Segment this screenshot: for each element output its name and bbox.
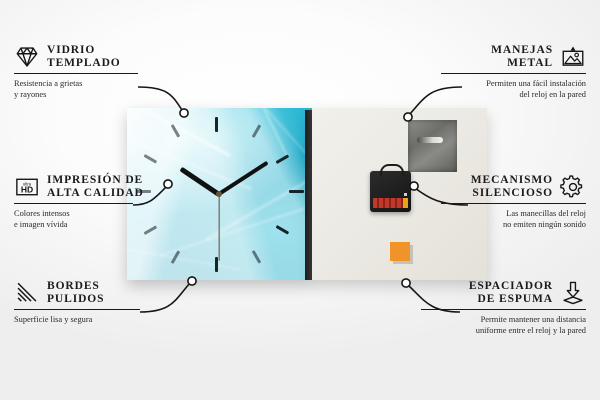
callout-title-line1: BORDES — [47, 280, 104, 293]
metal-hanger — [408, 120, 457, 172]
ultra-hd-large-text: HD — [21, 185, 33, 195]
callout-title-line2: SILENCIOSO — [471, 187, 553, 200]
callout-description: Colores intensos e imagen vívida — [14, 208, 214, 230]
callout-header: VIDRIO TEMPLADO — [14, 44, 214, 70]
callout-header: MECANISMO SILENCIOSO — [386, 174, 586, 200]
callout-header: ultra HD IMPRESIÓN DE ALTA CALIDAD — [14, 174, 214, 200]
desc-line1: Permite mantener una distancia — [386, 314, 586, 325]
callout-title-line2: PULIDOS — [47, 293, 104, 306]
callout-title-line1: ESPACIADOR — [469, 280, 553, 293]
callout-title-line1: MANEJAS — [491, 44, 553, 57]
callout-mecanismo-silencioso: MECANISMO SILENCIOSO Las manecillas del … — [386, 174, 586, 230]
callout-impresion-alta-calidad: ultra HD IMPRESIÓN DE ALTA CALIDAD Color… — [14, 174, 214, 230]
callout-vidrio-templado: VIDRIO TEMPLADO Resistencia a grietas y … — [14, 44, 214, 100]
callout-divider — [14, 203, 133, 204]
desc-line1: Permiten una fácil instalación — [386, 78, 586, 89]
callout-description: Superficie lisa y segura — [14, 314, 214, 325]
callout-description: Las manecillas del reloj no emiten ningú… — [386, 208, 586, 230]
hanger-slot — [417, 137, 443, 143]
infographic-canvas: VIDRIO TEMPLADO Resistencia a grietas y … — [0, 0, 600, 400]
callout-title-line2: DE ESPUMA — [469, 293, 553, 306]
down-arrow-pad-icon — [560, 280, 586, 306]
callout-title-line2: ALTA CALIDAD — [47, 187, 144, 200]
clock-side-edge — [305, 110, 312, 280]
desc-line2: e imagen vívida — [14, 219, 214, 230]
callout-header: MANEJAS METAL — [386, 44, 586, 70]
callout-divider — [441, 203, 586, 204]
callout-title-line1: MECANISMO — [471, 174, 553, 187]
callout-divider — [421, 309, 586, 310]
callout-header: ESPACIADOR DE ESPUMA — [386, 280, 586, 306]
callout-title-line2: METAL — [491, 57, 553, 70]
callout-divider — [14, 309, 140, 310]
callout-divider — [441, 73, 586, 74]
desc-line2: del reloj en la pared — [386, 89, 586, 100]
framed-picture-icon — [560, 44, 586, 70]
desc-line2: y rayones — [14, 89, 214, 100]
callout-description: Permite mantener una distancia uniforme … — [386, 314, 586, 336]
diagonal-lines-icon — [14, 280, 40, 306]
desc-line1: Superficie lisa y segura — [14, 314, 214, 325]
diamond-icon — [14, 44, 40, 70]
desc-line2: no emiten ningún sonido — [386, 219, 586, 230]
callout-title-line1: IMPRESIÓN DE — [47, 174, 144, 187]
callout-bordes-pulidos: BORDES PULIDOS Superficie lisa y segura — [14, 280, 214, 325]
clock-second-hand — [218, 195, 219, 261]
foam-spacer — [390, 242, 410, 261]
callout-header: BORDES PULIDOS — [14, 280, 214, 306]
clock-center-hub — [216, 191, 222, 197]
callout-description: Permiten una fácil instalación del reloj… — [386, 78, 586, 100]
ultra-hd-icon: ultra HD — [14, 174, 40, 200]
desc-line1: Resistencia a grietas — [14, 78, 214, 89]
callout-divider — [14, 73, 138, 74]
callout-espaciador-espuma: ESPACIADOR DE ESPUMA Permite mantener un… — [386, 280, 586, 336]
callout-description: Resistencia a grietas y rayones — [14, 78, 214, 100]
desc-line2: uniforme entre el reloj y la pared — [386, 325, 586, 336]
callout-title-line2: TEMPLADO — [47, 57, 121, 70]
callout-title-line1: VIDRIO — [47, 44, 121, 57]
desc-line1: Las manecillas del reloj — [386, 208, 586, 219]
callout-manejas-metal: MANEJAS METAL Permiten una fácil instala… — [386, 44, 586, 100]
gear-icon — [560, 174, 586, 200]
desc-line1: Colores intensos — [14, 208, 214, 219]
